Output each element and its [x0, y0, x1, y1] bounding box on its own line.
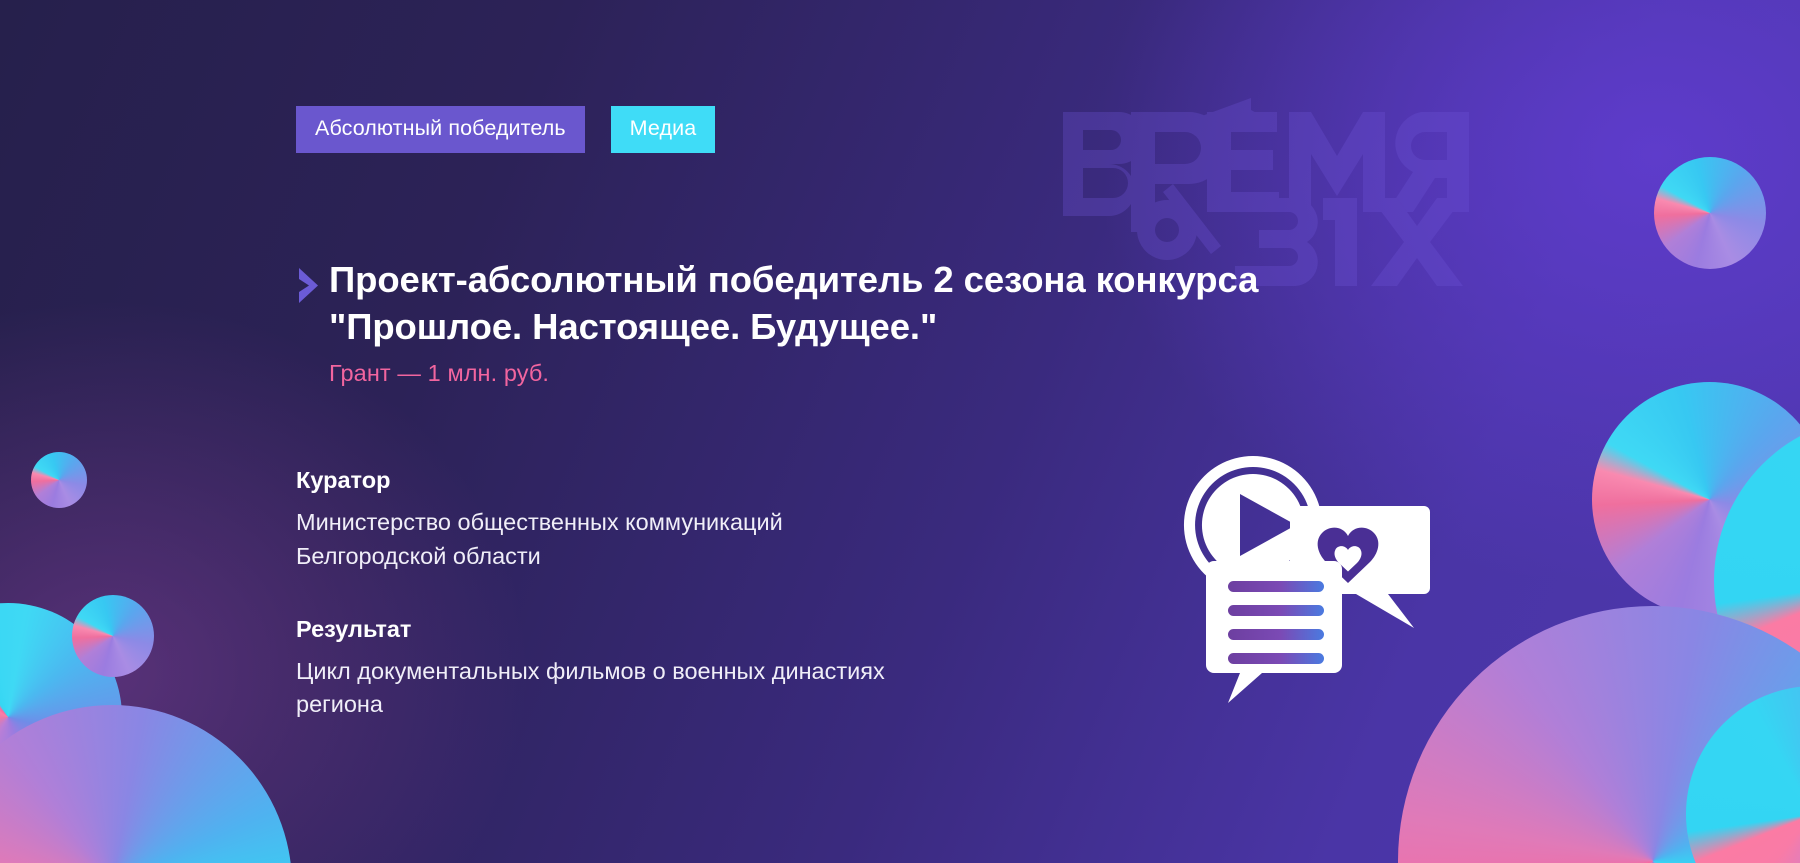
grant-amount: Грант — 1 млн. руб.: [329, 359, 1326, 387]
decorative-orb-right-large: [1714, 416, 1800, 746]
field-value: Министерство общественных коммуникаций Б…: [296, 506, 936, 573]
page-title: Проект-абсолютный победитель 2 сезона ко…: [329, 256, 1326, 350]
decorative-orb-mid-left: [31, 452, 87, 508]
heading-block: Проект-абсолютный победитель 2 сезона ко…: [296, 256, 1326, 387]
decorative-orb-top-right: [1654, 157, 1766, 269]
chevron-right-icon: [296, 266, 322, 306]
field-label: Результат: [296, 615, 996, 643]
decorative-orb-right-mid: [1592, 382, 1800, 617]
decorative-orb-bottom-left-small: [72, 595, 154, 677]
field-result: Результат Цикл документальных фильмов о …: [296, 615, 996, 722]
decorative-orb-bottom-left-large: [0, 705, 292, 863]
field-curator: Куратор Министерство общественных коммун…: [296, 466, 996, 573]
field-value: Цикл документальных фильмов о военных ди…: [296, 655, 936, 722]
detail-fields: Куратор Министерство общественных коммун…: [296, 466, 996, 722]
field-label: Куратор: [296, 466, 996, 494]
decorative-orb-bottom-left-cyan: [0, 603, 122, 831]
tag-list: Абсолютный победитель Медиа: [296, 106, 715, 153]
promo-banner: Абсолютный победитель Медиа Проект-абсол…: [0, 0, 1800, 863]
banner-content: Абсолютный победитель Медиа Проект-абсол…: [296, 0, 1316, 863]
decorative-orb-bottom-right-small: [1686, 686, 1800, 863]
decorative-orb-bottom-right-huge: [1398, 606, 1800, 863]
tag-media[interactable]: Медиа: [611, 106, 716, 153]
tag-absolute-winner[interactable]: Абсолютный победитель: [296, 106, 585, 153]
